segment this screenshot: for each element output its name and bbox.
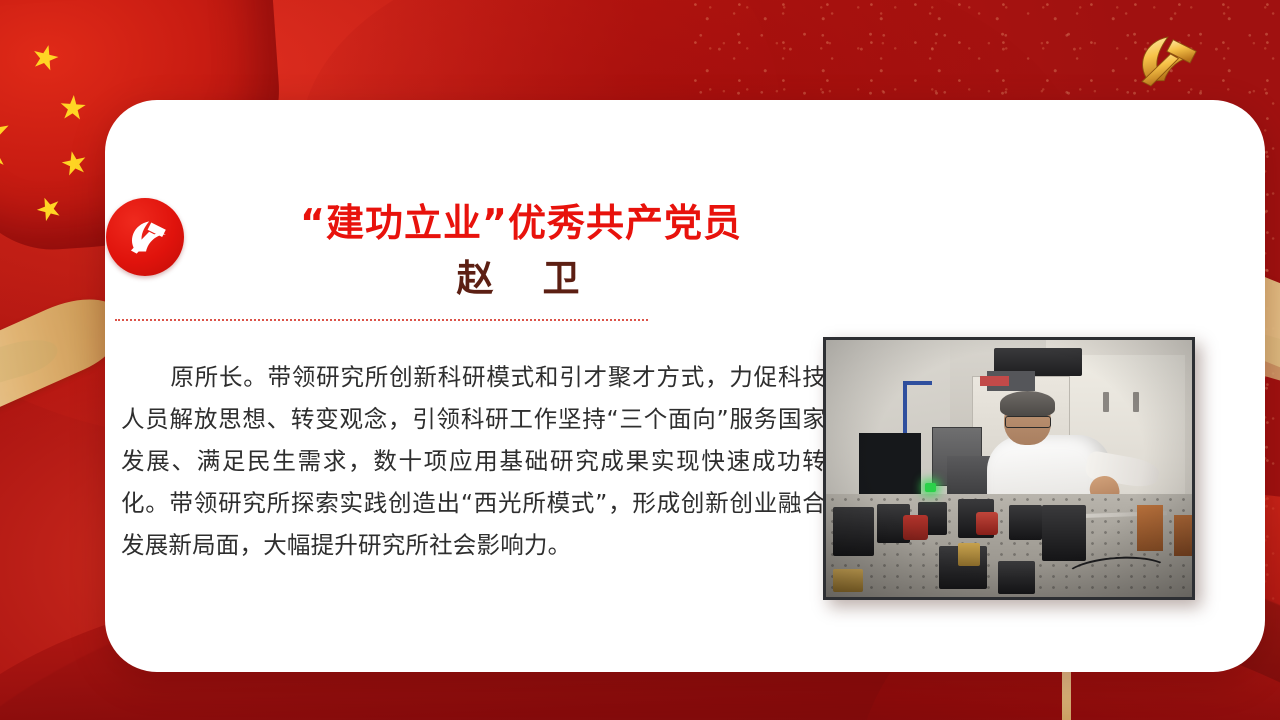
flag-star-small-4: [33, 193, 64, 224]
page-title: “建功立业”优秀共产党员: [201, 202, 841, 245]
person-name: 赵 卫: [201, 258, 841, 299]
flag-star-large: [0, 102, 17, 178]
flag-star-small-1: [30, 42, 62, 74]
party-emblem-badge-icon: [106, 198, 184, 276]
party-emblem-gold-icon: [1118, 22, 1214, 102]
slide-root: “建功立业”优秀共产党员 赵 卫 原所长。带领研究所创新科研模式和引才聚才方式，…: [0, 0, 1280, 720]
photo-frame: [823, 337, 1195, 600]
content-card: “建功立业”优秀共产党员 赵 卫 原所长。带领研究所创新科研模式和引才聚才方式，…: [105, 100, 1265, 672]
flag-star-small-2: [59, 94, 87, 122]
photo-vignette: [826, 340, 1192, 597]
title-divider: [115, 319, 648, 321]
biography-text: 原所长。带领研究所创新科研模式和引才聚才方式，力促科技人员解放思想、转变观念，引…: [121, 356, 826, 566]
flag-star-small-3: [59, 149, 89, 179]
lab-photo: [826, 340, 1192, 597]
